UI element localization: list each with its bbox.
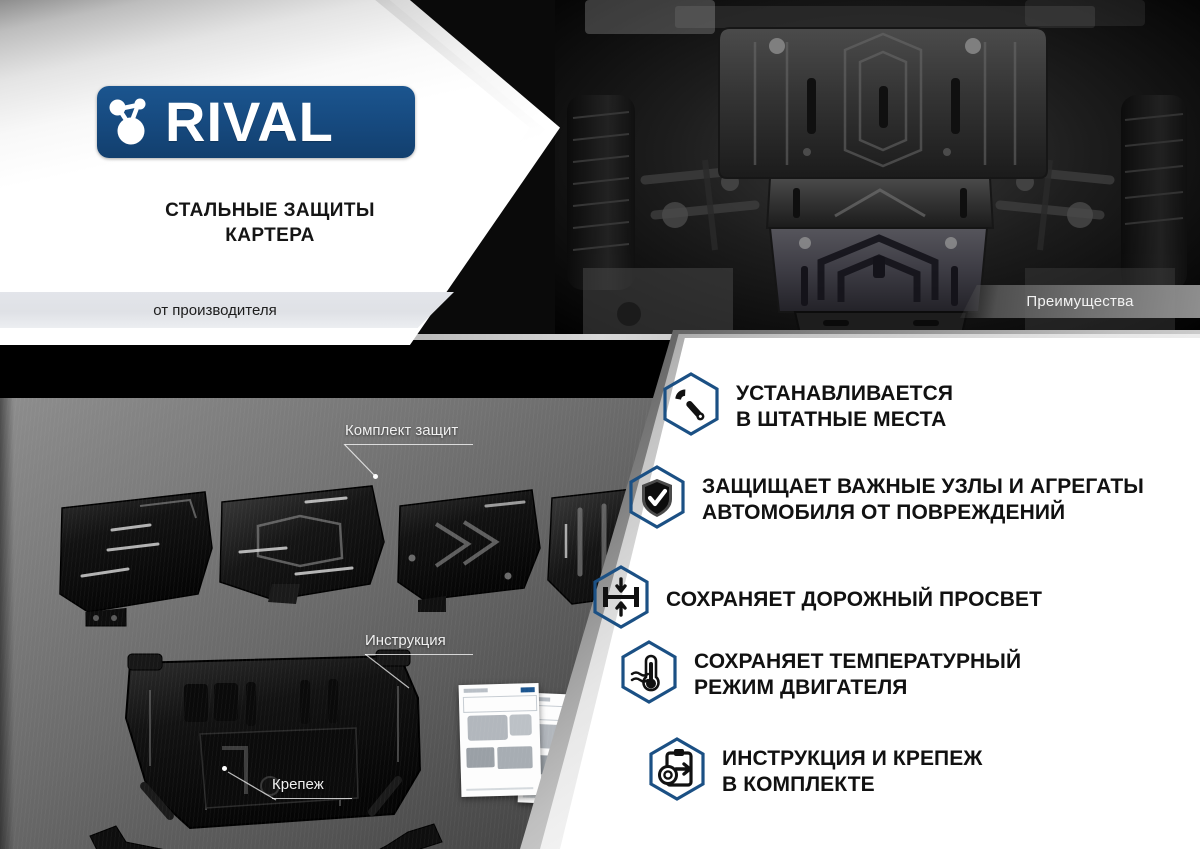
vehicle-underbody-photo: Преимущества bbox=[555, 0, 1200, 340]
callout-fasteners-leader bbox=[222, 770, 282, 804]
ground-clearance-icon bbox=[592, 565, 650, 634]
sheet-diagram-3 bbox=[467, 747, 495, 768]
advantage-line-1: СОХРАНЯЕТ ДОРОЖНЫЙ ПРОСВЕТ bbox=[666, 587, 1042, 612]
advantage-line-2: РЕЖИМ ДВИГАТЕЛЯ bbox=[694, 675, 1021, 700]
molecule-icon bbox=[97, 86, 169, 158]
advantage-item-installation: УСТАНАВЛИВАЕТСЯ В ШТАТНЫЕ МЕСТА bbox=[662, 372, 953, 441]
sheet-footer-bar bbox=[466, 787, 533, 791]
rival-logo[interactable]: RIVAL bbox=[97, 86, 415, 158]
subtitle: от производителя bbox=[0, 292, 430, 328]
advantage-line-2: В ШТАТНЫЕ МЕСТА bbox=[736, 407, 953, 432]
advantage-line-2: В КОМПЛЕКТЕ bbox=[722, 772, 982, 797]
advantage-item-clearance: СОХРАНЯЕТ ДОРОЖНЫЙ ПРОСВЕТ bbox=[592, 565, 1042, 634]
advantages-tab-label: Преимущества bbox=[1026, 293, 1133, 310]
clipboard-bolt-icon bbox=[648, 737, 706, 806]
sheet-header-bar bbox=[527, 697, 551, 701]
callout-instruction-underline bbox=[365, 654, 473, 655]
sheet-table bbox=[463, 695, 537, 712]
shield-check-icon bbox=[628, 465, 686, 534]
callout-fasteners-label: Крепеж bbox=[272, 776, 324, 793]
callout-kit-label: Комплект защит bbox=[345, 422, 458, 439]
advantage-item-protection: ЗАЩИЩАЕТ ВАЖНЫЕ УЗЛЫ И АГРЕГАТЫ АВТОМОБИ… bbox=[628, 465, 1144, 534]
callout-kit-underline bbox=[345, 444, 473, 445]
callout-kit-leader bbox=[330, 444, 400, 484]
advantage-text: СОХРАНЯЕТ ТЕМПЕРАТУРНЫЙ РЕЖИМ ДВИГАТЕЛЯ bbox=[694, 649, 1021, 699]
advantage-line-1: ИНСТРУКЦИЯ И КРЕПЕЖ bbox=[722, 746, 982, 771]
callout-kit-dot bbox=[373, 474, 378, 479]
advantage-line-1: УСТАНАВЛИВАЕТСЯ bbox=[736, 381, 953, 406]
promo-banner: Преимущества bbox=[0, 0, 1200, 849]
page-title-line-1: СТАЛЬНЫЕ ЗАЩИТЫ bbox=[60, 198, 480, 223]
instruction-sheet-front bbox=[459, 683, 542, 797]
callout-instruction-label: Инструкция bbox=[365, 632, 446, 649]
advantage-text: УСТАНАВЛИВАЕТСЯ В ШТАТНЫЕ МЕСТА bbox=[736, 381, 953, 431]
wrench-icon bbox=[662, 372, 720, 441]
page-title: СТАЛЬНЫЕ ЗАЩИТЫ КАРТЕРА bbox=[60, 198, 480, 248]
sheet-diagram-2 bbox=[509, 715, 532, 736]
advantage-text: СОХРАНЯЕТ ДОРОЖНЫЙ ПРОСВЕТ bbox=[666, 587, 1042, 612]
callout-instruction-leader bbox=[355, 654, 415, 694]
page-title-line-2: КАРТЕРА bbox=[60, 223, 480, 248]
advantage-text: ЗАЩИЩАЕТ ВАЖНЫЕ УЗЛЫ И АГРЕГАТЫ АВТОМОБИ… bbox=[702, 474, 1144, 524]
advantages-tab[interactable]: Преимущества bbox=[960, 285, 1200, 318]
advantage-item-kit-included: ИНСТРУКЦИЯ И КРЕПЕЖ В КОМПЛЕКТЕ bbox=[648, 737, 982, 806]
callout-fasteners-underline bbox=[272, 798, 352, 799]
sheet-brand-mark bbox=[520, 688, 535, 693]
advantage-line-1: ЗАЩИЩАЕТ ВАЖНЫЕ УЗЛЫ И АГРЕГАТЫ bbox=[702, 474, 1144, 499]
advantages-list: УСТАНАВЛИВАЕТСЯ В ШТАТНЫЕ МЕСТА ЗАЩИЩАЕТ… bbox=[620, 360, 1190, 830]
advantage-text: ИНСТРУКЦИЯ И КРЕПЕЖ В КОМПЛЕКТЕ bbox=[722, 746, 982, 796]
rival-wordmark: RIVAL bbox=[165, 94, 334, 150]
advantage-item-temperature: СОХРАНЯЕТ ТЕМПЕРАТУРНЫЙ РЕЖИМ ДВИГАТЕЛЯ bbox=[620, 640, 1021, 709]
callout-fasteners-dot bbox=[222, 766, 227, 771]
sheet-diagram-4 bbox=[497, 746, 533, 769]
sheet-diagram-1 bbox=[467, 715, 508, 741]
advantage-line-1: СОХРАНЯЕТ ТЕМПЕРАТУРНЫЙ bbox=[694, 649, 1021, 674]
advantage-line-2: АВТОМОБИЛЯ ОТ ПОВРЕЖДЕНИЙ bbox=[702, 500, 1144, 525]
sheet-header-bar bbox=[463, 689, 487, 693]
thermometer-icon bbox=[620, 640, 678, 709]
